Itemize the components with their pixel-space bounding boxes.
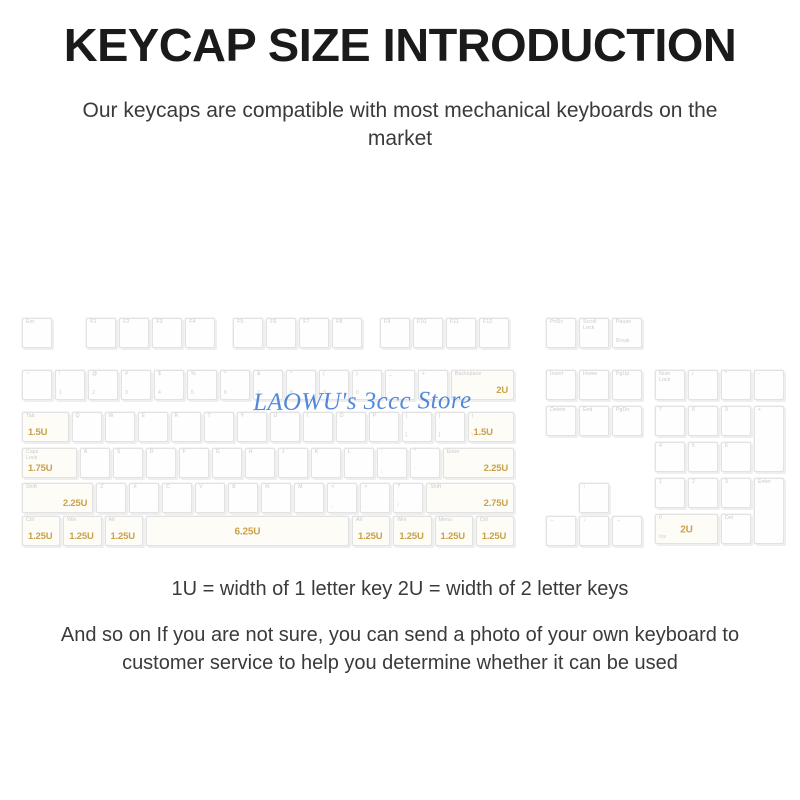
key-legend: 1 (659, 480, 662, 486)
key-numpad-multiply: * (721, 370, 751, 400)
key-q-1: Q (72, 412, 102, 442)
key-legend: / (692, 372, 694, 378)
key-legend: F3 (156, 320, 162, 326)
key-numpad-9: 9 (721, 406, 751, 436)
key-legend: ~ (26, 372, 29, 378)
key-legend-secondary: 1 (59, 391, 62, 397)
key-size-label: 2.25U (63, 498, 87, 509)
key-end: End (579, 406, 609, 436)
key-legend-secondary: / (397, 504, 398, 510)
key-legend: Shift (430, 485, 441, 491)
key-legend-secondary: = (422, 391, 425, 397)
key-legend: _ (389, 372, 392, 378)
key-size-label: 1.25U (399, 531, 423, 542)
key-y-6: Y (237, 412, 267, 442)
key-scroll-lock: Scroll Lock (579, 318, 609, 348)
key-f9: F9 (380, 318, 410, 348)
key-arrow-left: ← (546, 516, 576, 546)
key-home: Home (579, 370, 609, 400)
key-legend: F7 (303, 320, 309, 326)
key-legend: 9 (725, 408, 728, 414)
key-numpad-6: 6 (721, 442, 751, 472)
key-f8: F8 (332, 318, 362, 348)
key-legend: F (183, 450, 186, 456)
key-m-7: M (294, 483, 324, 513)
key-legend: K (315, 450, 319, 456)
key-legend: Win (67, 518, 76, 524)
key-legend: F5 (237, 320, 243, 326)
key-legend: 7 (659, 408, 662, 414)
key-numpad-2: 2 (688, 478, 718, 508)
key-pgup: PgUp (612, 370, 642, 400)
key-legend: F9 (384, 320, 390, 326)
key-arrow-right: → (612, 516, 642, 546)
key-numpad-8: 8 (688, 406, 718, 436)
key-size-label: 1.25U (111, 531, 135, 542)
key-legend: G (216, 450, 220, 456)
key-w-2: W (105, 412, 135, 442)
key-legend: 3 (725, 480, 728, 486)
key-legend: F10 (417, 320, 426, 326)
key-enter-12: Enter2.25U (443, 448, 514, 478)
key-numpad-5: 5 (688, 442, 718, 472)
key-j-7: J (278, 448, 308, 478)
key-t-5: T (204, 412, 234, 442)
key-shift-0: Shift2.25U (22, 483, 93, 513)
key-legend-secondary: 9 (323, 391, 326, 397)
key---9: >. (360, 483, 390, 513)
key---3: #3 (121, 370, 151, 400)
key-legend: O (340, 414, 344, 420)
key-f5: F5 (233, 318, 263, 348)
key-n-6: N (261, 483, 291, 513)
key-legend: F4 (189, 320, 195, 326)
key-numpad-enter: Enter (754, 478, 784, 544)
key-caps-lock-0: Caps Lock1.75U (22, 448, 77, 478)
key-numpad-1: 1 (655, 478, 685, 508)
key---13: |\1.5U (468, 412, 515, 442)
key-legend: PgDn (616, 408, 629, 414)
key-shift-11: Shift2.75U (426, 483, 514, 513)
key---12: += (418, 370, 448, 400)
key---5: %5 (187, 370, 217, 400)
key-legend: X (133, 485, 137, 491)
key-z-1: Z (96, 483, 126, 513)
key-legend: Insert (550, 372, 564, 378)
key---9: (9 (319, 370, 349, 400)
key-numpad-del: Del (721, 514, 751, 544)
key-legend: > (364, 485, 367, 491)
key-legend: Del (725, 516, 733, 522)
key-legend: ↑ (583, 485, 586, 491)
key-legend-secondary: Break (616, 339, 630, 345)
key-pause: PauseBreak (612, 318, 642, 348)
key-f2: F2 (119, 318, 149, 348)
key-legend: Caps Lock (26, 450, 48, 462)
key-legend: Ctrl (480, 518, 488, 524)
key-legend: 8 (692, 408, 695, 414)
key-legend-secondary: ` (26, 391, 28, 397)
key---10: ?/ (393, 483, 423, 513)
key-legend: * (290, 372, 292, 378)
key-legend: * (725, 372, 727, 378)
key-legend: ) (356, 372, 358, 378)
key-legend-secondary: . (364, 504, 365, 510)
key---11: "' (410, 448, 440, 478)
key-legend: + (758, 408, 761, 414)
key---7: &7 (253, 370, 283, 400)
keyboard-diagram: EscF1F2F3F4F5F6F7F8F9F10F11F12~`!1@2#3$4… (0, 300, 800, 565)
key-f10: F10 (413, 318, 443, 348)
key-legend: & (257, 372, 261, 378)
key-legend: Y (241, 414, 245, 420)
key-legend-secondary: ; (381, 469, 382, 475)
key-legend: ^ (224, 372, 227, 378)
key---10: :; (377, 448, 407, 478)
page-title: KEYCAP SIZE INTRODUCTION (0, 22, 800, 68)
key-numpad-4: 4 (655, 442, 685, 472)
key-legend: F6 (270, 320, 276, 326)
key-e-3: E (138, 412, 168, 442)
key-g-5: G (212, 448, 242, 478)
key---10: )0 (352, 370, 382, 400)
key-size-label: 1.25U (482, 531, 506, 542)
key-legend: I (307, 414, 309, 420)
key-legend: ? (397, 485, 400, 491)
key-legend: L (348, 450, 351, 456)
key-numpad-divide: / (688, 370, 718, 400)
key-legend-secondary: 8 (290, 391, 293, 397)
key-f4: F4 (185, 318, 215, 348)
key-legend: R (175, 414, 179, 420)
key-ctrl-0: Ctrl1.25U (22, 516, 60, 546)
key-legend: Shift (26, 485, 37, 491)
key-p-10: P (369, 412, 399, 442)
key-size-label: 2U (656, 524, 717, 535)
key-legend: U (274, 414, 278, 420)
key-legend: → (616, 518, 621, 524)
key-legend: { (406, 414, 408, 420)
key-legend: Alt (109, 518, 115, 524)
key-legend-secondary: , (331, 504, 332, 510)
key-legend: ! (59, 372, 61, 378)
key-pgdn: PgDn (612, 406, 642, 436)
key-legend: Delete (550, 408, 566, 414)
key-legend: 5 (692, 444, 695, 450)
key-size-label: 1.25U (358, 531, 382, 542)
key-b-5: B (228, 483, 258, 513)
key-size-label: 1.25U (28, 531, 52, 542)
key-legend: D (150, 450, 154, 456)
key-legend: Tab (26, 414, 35, 420)
key-legend: % (191, 372, 196, 378)
key-legend: End (583, 408, 593, 414)
key-numpad-7: 7 (655, 406, 685, 436)
key-size-label: 2.25U (484, 463, 508, 474)
key---8: *8 (286, 370, 316, 400)
key-d-3: D (146, 448, 176, 478)
key-legend-secondary: Ins (659, 535, 666, 541)
key-h-6: H (245, 448, 275, 478)
key-legend-secondary: 4 (158, 391, 161, 397)
key-legend: " (414, 450, 416, 456)
key-u-7: U (270, 412, 300, 442)
key-legend: $ (158, 372, 161, 378)
key-legend-secondary: [ (406, 433, 407, 439)
key-legend: ↓ (583, 518, 586, 524)
key-f6: F6 (266, 318, 296, 348)
key-legend: 4 (659, 444, 662, 450)
key-legend: ← (550, 518, 555, 524)
key---11: _- (385, 370, 415, 400)
key-size-label: 1.5U (474, 427, 493, 438)
key-legend: Menu (439, 518, 452, 524)
key-legend: A (84, 450, 88, 456)
key-alt-4: Alt1.25U (352, 516, 390, 546)
key-f11: F11 (446, 318, 476, 348)
key-size-label: 1.25U (441, 531, 465, 542)
key-f7: F7 (299, 318, 329, 348)
footer-note-text: And so on If you are not sure, you can s… (40, 622, 760, 677)
key-menu-6: Menu1.25U (435, 516, 473, 546)
key-a-1: A (80, 448, 110, 478)
key-legend: < (331, 485, 334, 491)
key-legend: F1 (90, 320, 96, 326)
key-alt-2: Alt1.25U (105, 516, 143, 546)
key-f-4: F (179, 448, 209, 478)
key-delete: Delete (546, 406, 576, 436)
key-f3: F3 (152, 318, 182, 348)
key-legend: Ctrl (26, 518, 34, 524)
key-legend: J (282, 450, 285, 456)
key-legend-secondary: 2 (92, 391, 95, 397)
key-v-4: V (195, 483, 225, 513)
key-legend: Win (397, 518, 406, 524)
key-esc: Esc (22, 318, 52, 348)
key-size-label: 1.5U (28, 427, 47, 438)
key-legend-secondary: 6 (224, 391, 227, 397)
key-legend: } (439, 414, 441, 420)
key-legend-secondary: 0 (356, 391, 359, 397)
key-legend: 2 (692, 480, 695, 486)
key-legend: @ (92, 372, 97, 378)
key-legend: S (117, 450, 121, 456)
key-size-label: 2U (496, 385, 508, 396)
key-legend: Q (76, 414, 80, 420)
key---1: !1 (55, 370, 85, 400)
key-legend: Z (100, 485, 103, 491)
key-legend: 0 (659, 516, 662, 522)
key-num-lock: Num Lock (655, 370, 685, 400)
key-legend-secondary: 3 (125, 391, 128, 397)
key---11: {[ (402, 412, 432, 442)
key-backspace-13: Backspace2U (451, 370, 514, 400)
key-numpad-3: 3 (721, 478, 751, 508)
key-i-8: I (303, 412, 333, 442)
key-legend: T (208, 414, 211, 420)
key-legend: H (249, 450, 253, 456)
key-legend: Home (583, 372, 597, 378)
key---6: ^6 (220, 370, 250, 400)
key---12: }] (435, 412, 465, 442)
key-legend-secondary: ] (439, 433, 440, 439)
key-numpad-plus: + (754, 406, 784, 472)
key---8: <, (327, 483, 357, 513)
key-legend: - (758, 372, 760, 378)
key-f12: F12 (479, 318, 509, 348)
key-tab-0: Tab1.5U (22, 412, 69, 442)
key-legend: + (422, 372, 425, 378)
key-arrow-down: ↓ (579, 516, 609, 546)
key-legend-secondary: - (389, 391, 391, 397)
key-space-3: 6.25U (146, 516, 349, 546)
key-numpad-0: 0Ins2U (655, 514, 718, 544)
key-o-9: O (336, 412, 366, 442)
key-legend: Num Lock (659, 372, 681, 384)
key-legend: C (166, 485, 170, 491)
key-legend: Backspace (455, 372, 481, 378)
key-insert: Insert (546, 370, 576, 400)
key-legend-secondary: ' (414, 469, 415, 475)
key-legend: Enter (447, 450, 460, 456)
key-legend-secondary: 5 (191, 391, 194, 397)
key-legend: | (472, 414, 473, 420)
key---0: ~` (22, 370, 52, 400)
key-legend: Pause (616, 320, 631, 326)
key-legend: W (109, 414, 114, 420)
key-legend: V (199, 485, 203, 491)
key-legend: F8 (336, 320, 342, 326)
key-legend: PgUp (616, 372, 629, 378)
key---2: @2 (88, 370, 118, 400)
key-size-label: 6.25U (147, 526, 348, 537)
key-legend: Alt (356, 518, 362, 524)
key-legend: 6 (725, 444, 728, 450)
key-win-1: Win1.25U (63, 516, 101, 546)
key-size-label: 1.25U (69, 531, 93, 542)
key-legend: P (373, 414, 377, 420)
key-legend: # (125, 372, 128, 378)
key---4: $4 (154, 370, 184, 400)
key-legend: Esc (26, 320, 35, 326)
key-ctrl-7: Ctrl1.25U (476, 516, 514, 546)
key-prtsc: PrtSc (546, 318, 576, 348)
key-legend: B (232, 485, 236, 491)
key-legend: : (381, 450, 383, 456)
key-legend: N (265, 485, 269, 491)
key-legend: PrtSc (550, 320, 563, 326)
key-legend: F2 (123, 320, 129, 326)
page-subtitle: Our keycaps are compatible with most mec… (50, 97, 750, 154)
key-arrow-up: ↑ (579, 483, 609, 513)
key-x-2: X (129, 483, 159, 513)
key-legend: ( (323, 372, 325, 378)
key-legend: F12 (483, 320, 492, 326)
unit-legend-text: 1U = width of 1 letter key 2U = width of… (0, 578, 800, 601)
key-legend: Enter (758, 480, 771, 486)
key-r-4: R (171, 412, 201, 442)
key-win-5: Win1.25U (393, 516, 431, 546)
key-legend: F11 (450, 320, 459, 326)
key-legend-secondary: 7 (257, 391, 260, 397)
key-l-9: L (344, 448, 374, 478)
key-s-2: S (113, 448, 143, 478)
key-f1: F1 (86, 318, 116, 348)
key-legend: M (298, 485, 302, 491)
key-legend: Scroll Lock (583, 320, 605, 332)
key-c-3: C (162, 483, 192, 513)
key-size-label: 2.75U (484, 498, 508, 509)
key-numpad-minus: - (754, 370, 784, 400)
key-k-8: K (311, 448, 341, 478)
key-legend: E (142, 414, 146, 420)
key-size-label: 1.75U (28, 463, 52, 474)
